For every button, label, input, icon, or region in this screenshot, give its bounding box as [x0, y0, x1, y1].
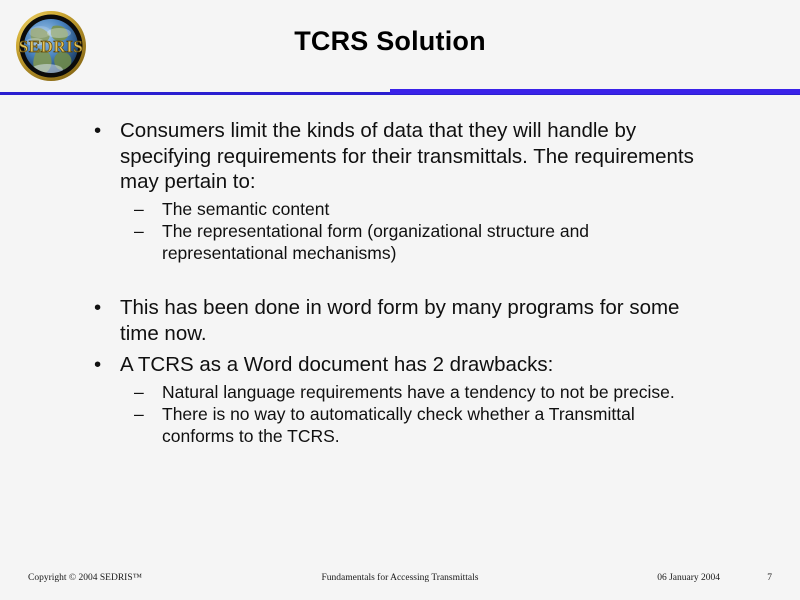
list-item: – The semantic content — [132, 199, 800, 221]
slide-footer: Copyright © 2004 SEDRIS™ Fundamentals fo… — [0, 570, 800, 594]
list-item-text: The representational form (organizationa… — [162, 221, 692, 264]
bullet-marker-icon: • — [94, 352, 101, 378]
footer-page-number: 7 — [767, 573, 772, 583]
content-block-2: • This has been done in word form by man… — [0, 295, 800, 346]
sub-list-wrapper-3: – Natural language requirements have a t… — [88, 382, 800, 448]
list-item: • This has been done in word form by man… — [88, 295, 800, 346]
list-item-text: The semantic content — [162, 199, 692, 221]
footer-date: 06 January 2004 — [657, 573, 720, 583]
header-divider-accent — [390, 89, 800, 94]
svg-text:SEDRIS: SEDRIS — [19, 37, 83, 56]
slide-header: SEDRIS TCRS Solution — [0, 0, 800, 95]
list-item: – Natural language requirements have a t… — [132, 382, 800, 404]
sedris-globe-logo: SEDRIS — [7, 8, 95, 84]
list-item-text: This has been done in word form by many … — [120, 295, 700, 346]
bullet-list-level2: – The semantic content – The representat… — [132, 199, 800, 265]
block-spacer — [0, 265, 800, 295]
bullet-list-level1: • Consumers limit the kinds of data that… — [88, 118, 800, 195]
bullet-list-level1: • This has been done in word form by man… — [88, 295, 800, 346]
list-item-text: A TCRS as a Word document has 2 drawback… — [120, 352, 700, 378]
bullet-list-level1: • A TCRS as a Word document has 2 drawba… — [88, 352, 800, 378]
list-item: • A TCRS as a Word document has 2 drawba… — [88, 352, 800, 378]
bullet-list-level2: – Natural language requirements have a t… — [132, 382, 800, 448]
list-item: – There is no way to automatically check… — [132, 404, 800, 447]
list-item: – The representational form (organizatio… — [132, 221, 800, 264]
dash-marker-icon: – — [134, 199, 144, 221]
list-item: • Consumers limit the kinds of data that… — [88, 118, 800, 195]
list-item-text: There is no way to automatically check w… — [162, 404, 692, 447]
dash-marker-icon: – — [134, 382, 144, 404]
content-block-1: • Consumers limit the kinds of data that… — [0, 118, 800, 264]
list-item-text: Consumers limit the kinds of data that t… — [120, 118, 700, 195]
dash-marker-icon: – — [134, 404, 144, 426]
list-item-text: Natural language requirements have a ten… — [162, 382, 692, 404]
dash-marker-icon: – — [134, 221, 144, 243]
content-block-3: • A TCRS as a Word document has 2 drawba… — [0, 352, 800, 447]
sub-list-wrapper-1: – The semantic content – The representat… — [88, 199, 800, 265]
slide-body: • Consumers limit the kinds of data that… — [0, 118, 800, 448]
bullet-marker-icon: • — [94, 118, 101, 144]
page-title: TCRS Solution — [110, 24, 670, 58]
bullet-marker-icon: • — [94, 295, 101, 321]
